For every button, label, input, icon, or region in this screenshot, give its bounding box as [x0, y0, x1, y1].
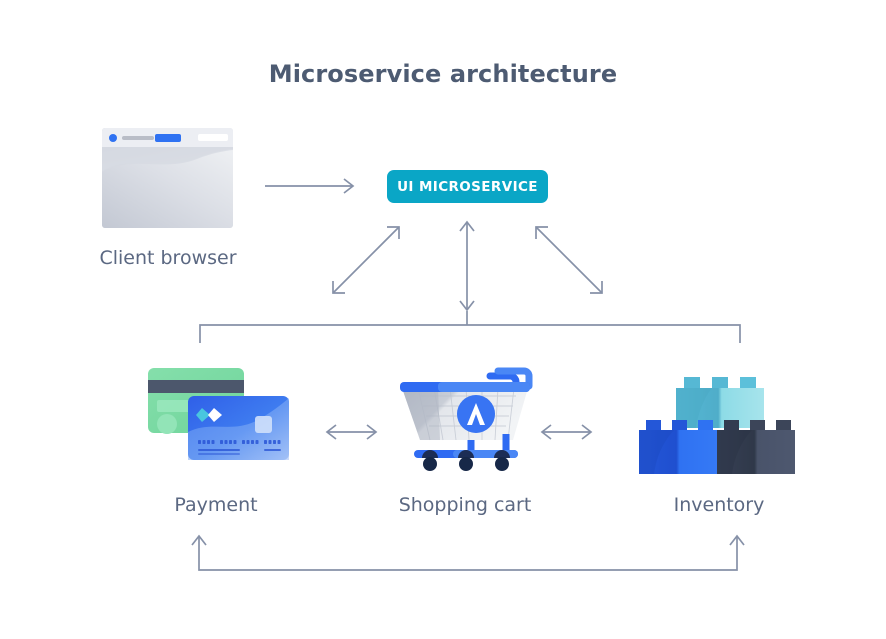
browser-tab-inactive: [198, 134, 228, 141]
browser-dot-icon: [109, 134, 117, 142]
browser-content-wave: [102, 147, 233, 228]
cart-wheels: [422, 450, 510, 471]
microservice-architecture-diagram: Microservice architecture C: [0, 0, 886, 639]
cart-badge-icon: [457, 395, 495, 433]
connectors-layer: [0, 0, 886, 639]
browser-window-icon: [102, 128, 233, 228]
connector-browser-to-ui-microservice: [265, 179, 353, 193]
credit-cards-icon: [140, 358, 296, 468]
node-label-client-browser: Client browser: [68, 247, 268, 269]
lego-brick-blue: [639, 420, 717, 474]
node-label-shopping-cart: Shopping cart: [365, 494, 565, 516]
connector-shopping-cart-to-inventory: [542, 425, 591, 439]
credit-card-front: [188, 396, 289, 460]
connector-ui-microservice-to-inventory: [536, 227, 602, 293]
node-label-payment: Payment: [116, 494, 316, 516]
ui-microservice-badge[interactable]: UI MICROSERVICE: [387, 170, 548, 203]
connector-payment-to-shopping-cart: [327, 425, 376, 439]
connector-ui-microservice-to-payment: [333, 227, 399, 293]
browser-tab-active: [155, 134, 181, 142]
connector-ui-microservice-to-shopping-cart: [460, 222, 474, 310]
lego-brick-dark: [717, 420, 795, 474]
node-label-inventory: Inventory: [619, 494, 819, 516]
page-title: Microservice architecture: [0, 60, 886, 88]
connector-service-bus-top: [200, 311, 740, 343]
shopping-cart-icon: [398, 362, 540, 474]
lego-bricks-icon: [636, 363, 800, 478]
connector-payment-to-inventory-bottom: [192, 536, 744, 570]
browser-address-bar: [122, 136, 154, 140]
